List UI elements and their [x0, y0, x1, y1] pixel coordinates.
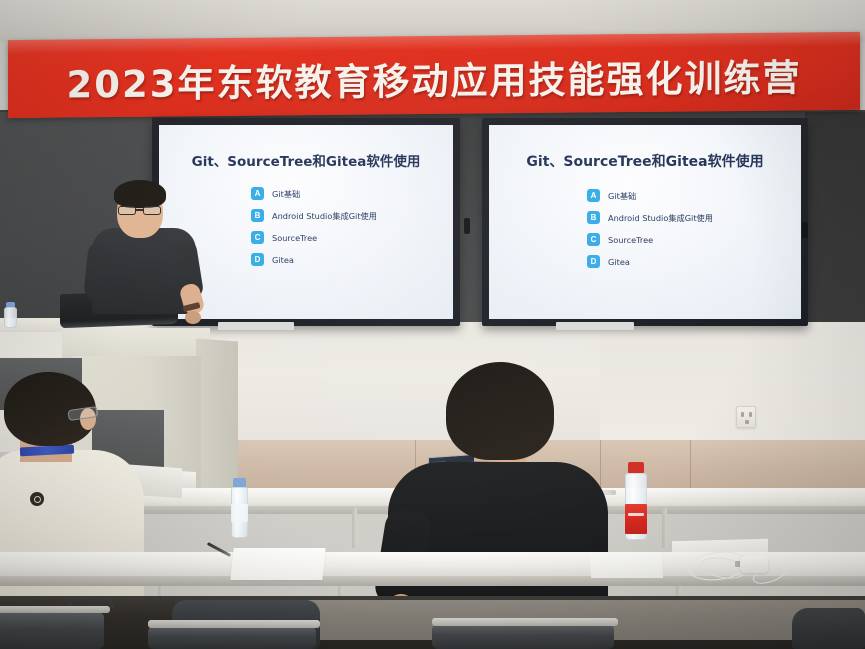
desk-leg — [352, 508, 357, 548]
water-bottle-small[interactable] — [4, 302, 17, 328]
screen-bezel-nub — [464, 218, 470, 234]
bag-right-floor[interactable] — [792, 608, 865, 649]
slide-bullet-c-right: C SourceTree — [587, 233, 713, 246]
chair-center[interactable] — [432, 624, 614, 649]
bullet-marker-b: B — [251, 209, 264, 222]
slide-bullet-b-right: B Android Studio集成Git使用 — [587, 211, 713, 224]
presenter-figure — [86, 180, 206, 330]
bullet-label-b: Android Studio集成Git使用 — [272, 210, 377, 222]
slide-bullet-d-right: D Gitea — [587, 255, 713, 268]
shirt-logo-icon — [30, 492, 44, 506]
bottle-body — [4, 307, 17, 328]
paper-sheet-right[interactable] — [589, 552, 663, 578]
wall-power-outlet[interactable] — [736, 406, 756, 428]
bullet-marker-c: C — [251, 231, 264, 244]
projection-screen-right[interactable]: Git、SourceTree和Gitea软件使用 A Git基础 B Andro… — [482, 118, 808, 326]
bottle-cap-icon — [233, 478, 246, 487]
screen-stand-right — [556, 322, 634, 330]
chair-left-frame — [0, 606, 110, 613]
slide-bullet-c: C SourceTree — [251, 231, 377, 244]
slide-title-right: Git、SourceTree和Gitea软件使用 — [489, 151, 801, 171]
slide-title-left: Git、SourceTree和Gitea软件使用 — [159, 150, 453, 170]
slide-bullet-a: A Git基础 — [251, 187, 377, 200]
bullet-label-d-right: Gitea — [608, 257, 630, 267]
water-bottle-blue-cap[interactable] — [231, 478, 248, 538]
chair-center-frame — [432, 618, 618, 626]
bullet-label-d: Gitea — [272, 255, 294, 265]
slide-bullets-right: A Git基础 B Android Studio集成Git使用 C Source… — [587, 189, 713, 277]
laptop-power-adapter[interactable] — [740, 556, 768, 573]
chalkboard-right — [805, 112, 865, 327]
bullet-label-c: SourceTree — [272, 233, 317, 243]
paper-sheet[interactable] — [230, 548, 325, 580]
bullet-label-b-right: Android Studio集成Git使用 — [608, 212, 713, 224]
bullet-marker-d-right: D — [587, 255, 600, 268]
slide-bullet-d: D Gitea — [251, 253, 377, 266]
chair-center-left-frame — [148, 620, 320, 628]
screen-bezel-nub-right — [802, 222, 808, 238]
bullet-label-a: Git基础 — [272, 188, 300, 200]
slide-bullet-b: B Android Studio集成Git使用 — [251, 209, 377, 222]
banner-text: 2023年东软教育移动应用技能强化训练营 — [8, 32, 860, 118]
presenter-glasses-icon — [117, 206, 163, 215]
event-banner: 2023年东软教育移动应用技能强化训练营 — [8, 32, 860, 118]
bullet-label-a-right: Git基础 — [608, 190, 636, 202]
presenter-hand — [185, 311, 201, 324]
chair-center-left[interactable] — [148, 626, 316, 649]
student-left-torso — [0, 450, 144, 610]
bottle-label — [625, 504, 647, 534]
chair-left[interactable] — [0, 612, 104, 649]
screen-stand-left — [218, 322, 294, 330]
slide-bullet-a-right: A Git基础 — [587, 189, 713, 202]
classroom-photo: 2023年东软教育移动应用技能强化训练营 Git、SourceTree和Gite… — [0, 0, 865, 649]
slide-bullets-left: A Git基础 B Android Studio集成Git使用 C Source… — [251, 187, 377, 275]
bottle-cap-icon — [628, 462, 644, 473]
bullet-marker-b-right: B — [587, 211, 600, 224]
presenter-hair — [114, 180, 166, 208]
bullet-marker-d: D — [251, 253, 264, 266]
bottle-label — [231, 504, 248, 522]
student-center-hair — [446, 362, 554, 460]
water-bottle-red-label[interactable] — [625, 462, 647, 540]
wall-white-right — [600, 327, 865, 452]
podium-top-surface — [62, 328, 210, 358]
bullet-marker-c-right: C — [587, 233, 600, 246]
desk-leg — [662, 508, 667, 548]
bullet-label-c-right: SourceTree — [608, 235, 653, 245]
bullet-marker-a: A — [251, 187, 264, 200]
slide-surface-right: Git、SourceTree和Gitea软件使用 A Git基础 B Andro… — [489, 125, 801, 319]
bullet-marker-a-right: A — [587, 189, 600, 202]
